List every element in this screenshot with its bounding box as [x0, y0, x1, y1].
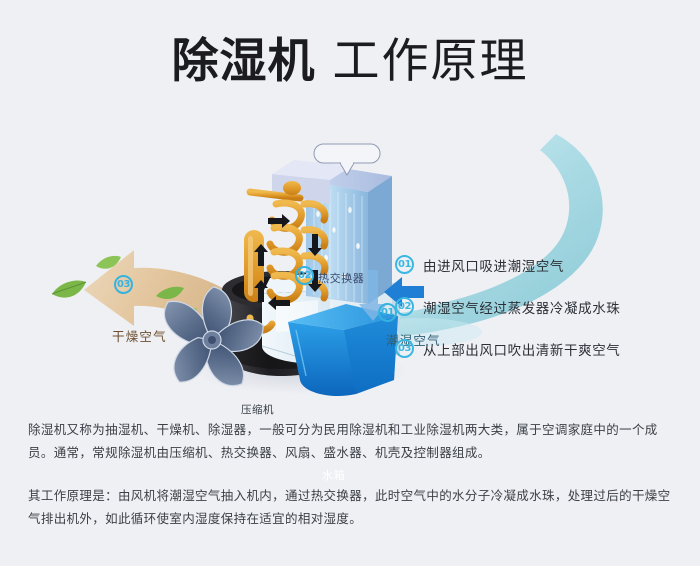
list-item: 03 从上部出风口吹出清新干爽空气: [395, 337, 685, 360]
list-item: 02 潮湿空气经过蒸发器冷凝成水珠: [395, 295, 685, 318]
coil-cap: [283, 181, 301, 195]
page-title: 除湿机 工作原理: [0, 34, 700, 90]
page-title-primary: 除湿机: [172, 34, 316, 89]
step-label: 由进风口吸进潮湿空气: [423, 255, 564, 275]
step-number-badge: 03: [395, 339, 414, 358]
step-number-badge: 02: [395, 297, 414, 316]
page-title-secondary: [316, 34, 333, 89]
description-paragraph-1: 除湿机又称为抽湿机、干燥机、除湿器，一般可分为民用除湿机和工业除湿机两大类，属于…: [28, 418, 676, 464]
badge-heat-exchanger: 02: [295, 266, 314, 285]
page-title-text: 除湿机 工作原理: [172, 34, 529, 90]
badge-dry-air: 03: [114, 275, 133, 294]
page-title-secondary-text: 工作原理: [332, 34, 528, 89]
step-label: 从上部出风口吹出清新干爽空气: [423, 339, 620, 359]
page-root: 除湿机 工作原理: [0, 0, 700, 566]
step-label: 潮湿空气经过蒸发器冷凝成水珠: [423, 297, 620, 317]
list-item: 01 由进风口吸进潮湿空气: [395, 253, 685, 276]
process-step-list: 01 由进风口吸进潮湿空气 02 潮湿空气经过蒸发器冷凝成水珠 03 从上部出风…: [395, 253, 685, 379]
description-paragraph-2: 其工作原理是：由风机将潮湿空气抽入机内，通过热交换器，此时空气中的水分子冷凝成水…: [28, 484, 676, 530]
description-section: 除湿机又称为抽湿机、干燥机、除湿器，一般可分为民用除湿机和工业除湿机两大类，属于…: [28, 418, 676, 530]
step-number-badge: 01: [395, 255, 414, 274]
label-compressor: 压缩机: [241, 402, 274, 417]
